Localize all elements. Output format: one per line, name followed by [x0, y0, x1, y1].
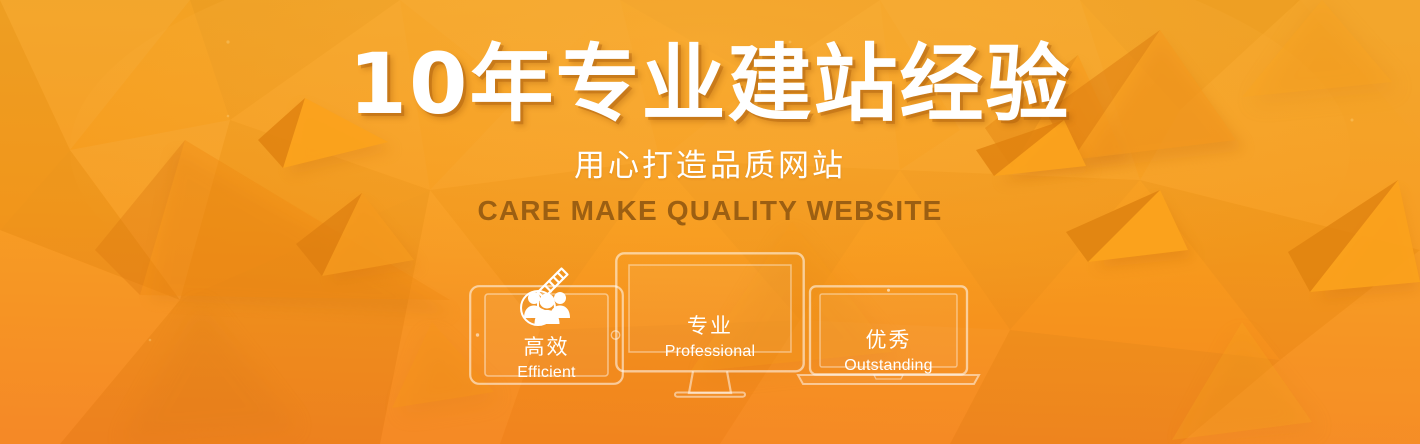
- promo-banner: 10年专业建站经验 用心打造品质网站 CARE MAKE QUALITY WEB…: [0, 0, 1420, 444]
- laptop-outline-icon: [796, 285, 981, 395]
- tablet-outline-icon: [469, 285, 624, 385]
- feature-monitor-professional[interactable]: [615, 252, 805, 402]
- monitor-outline-icon: [615, 252, 805, 402]
- subtitle-chinese: 用心打造品质网站: [574, 150, 846, 181]
- subtitle-english: CARE MAKE QUALITY WEBSITE: [477, 197, 942, 225]
- feature-laptop-outstanding[interactable]: [796, 285, 981, 395]
- page-title: 10年专业建站经验: [349, 42, 1072, 126]
- feature-tablet-efficient[interactable]: [469, 285, 624, 385]
- feature-device-row: 高效 Efficient: [455, 252, 985, 407]
